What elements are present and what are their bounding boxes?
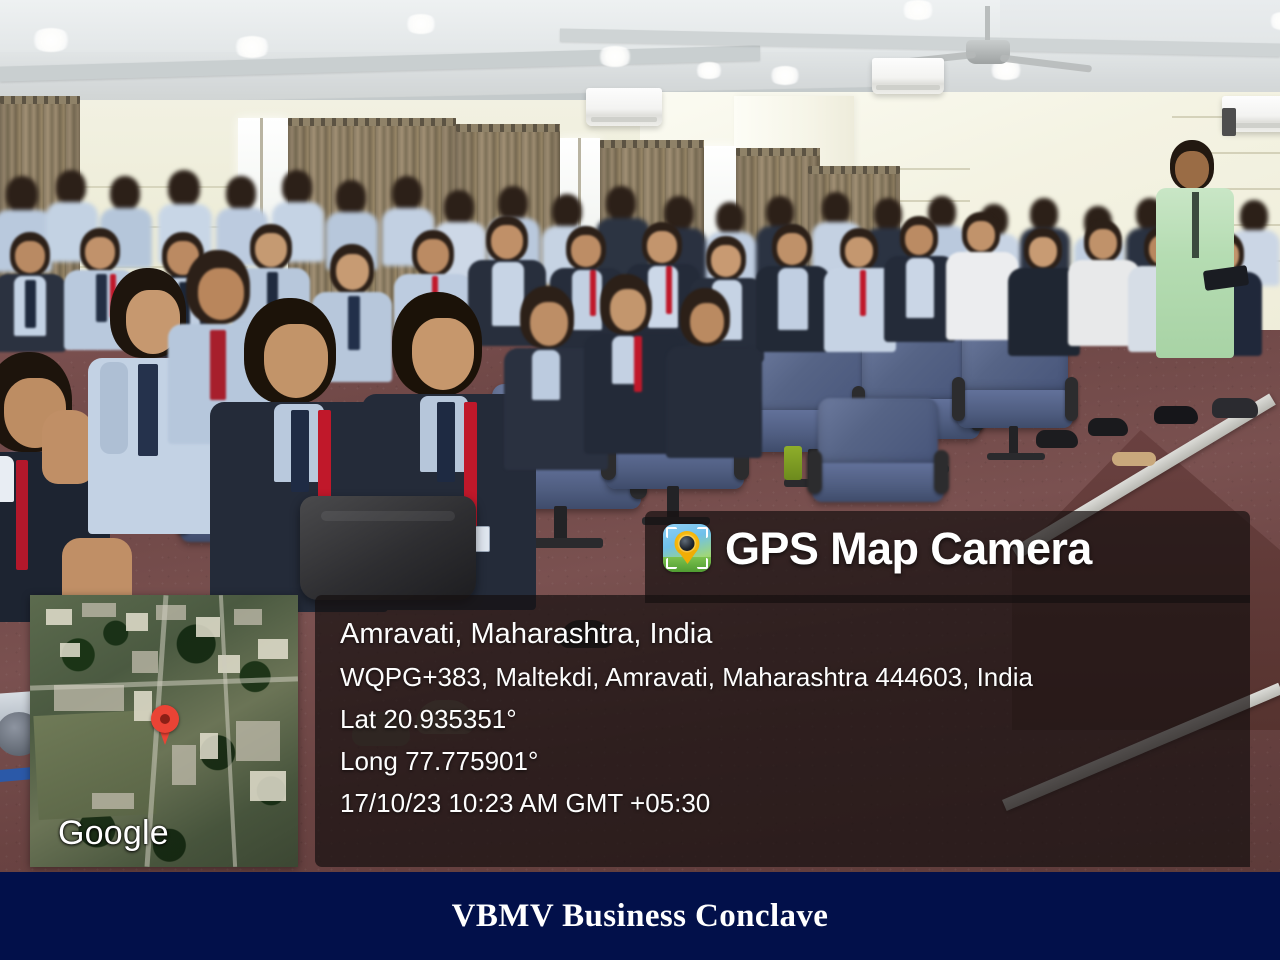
water-bottle <box>784 446 802 480</box>
caption-title: VBMV Business Conclave <box>452 898 829 935</box>
event-photograph: GPS Map Camera <box>0 0 1280 872</box>
caption-bar: VBMV Business Conclave <box>0 872 1280 960</box>
handbag <box>300 496 476 600</box>
screenshot-root: GPS Map Camera <box>0 0 1280 960</box>
